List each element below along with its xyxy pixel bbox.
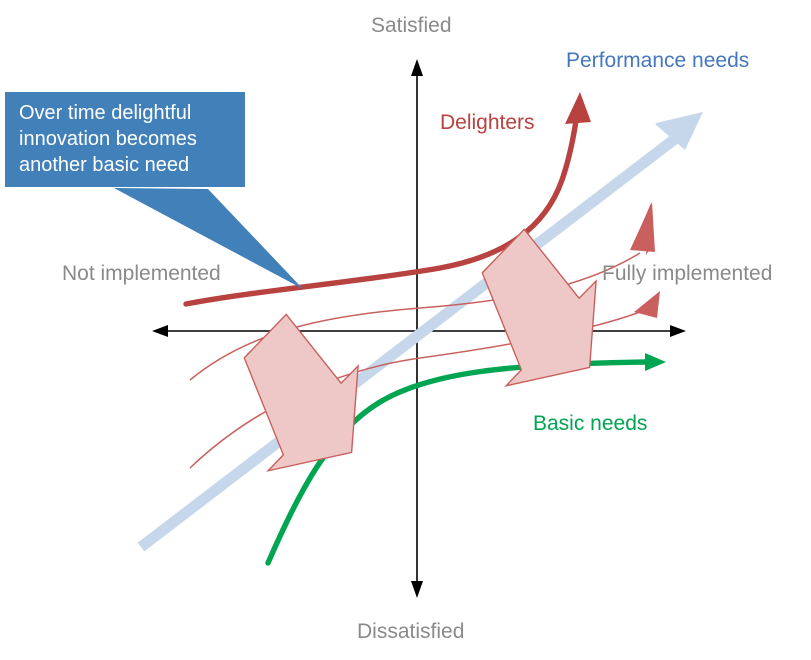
curve-label-delighters: Delighters (440, 110, 535, 136)
curve-label-basic-needs: Basic needs (533, 411, 647, 437)
delighters-arrowhead (565, 92, 591, 124)
vertical-axis-top-arrowhead (411, 59, 423, 76)
transition-curve-lower-head (634, 291, 660, 318)
callout-line-3: another basic need (19, 152, 235, 178)
horizontal-axis-right-arrowhead (670, 325, 686, 337)
axis-label-dissatisfied: Dissatisfied (357, 619, 464, 645)
curve-label-performance-needs: Performance needs (566, 48, 749, 74)
kano-model-diagram: Over time delightful innovation becomes … (0, 0, 811, 660)
callout-line-2: innovation becomes (19, 126, 235, 152)
vertical-axis-bottom-arrowhead (411, 581, 423, 598)
callout-line-1: Over time delightful (19, 100, 235, 126)
axis-label-not-implemented: Not implemented (62, 261, 221, 287)
basic-needs-arrowhead (645, 353, 666, 371)
horizontal-axis-left-arrowhead (152, 325, 168, 337)
axis-label-fully-implemented: Fully implemented (602, 261, 772, 287)
callout-box: Over time delightful innovation becomes … (5, 92, 245, 187)
performance-needs-line (141, 132, 684, 547)
transition-curve-upper-head (630, 202, 655, 252)
axis-label-satisfied: Satisfied (371, 13, 452, 39)
